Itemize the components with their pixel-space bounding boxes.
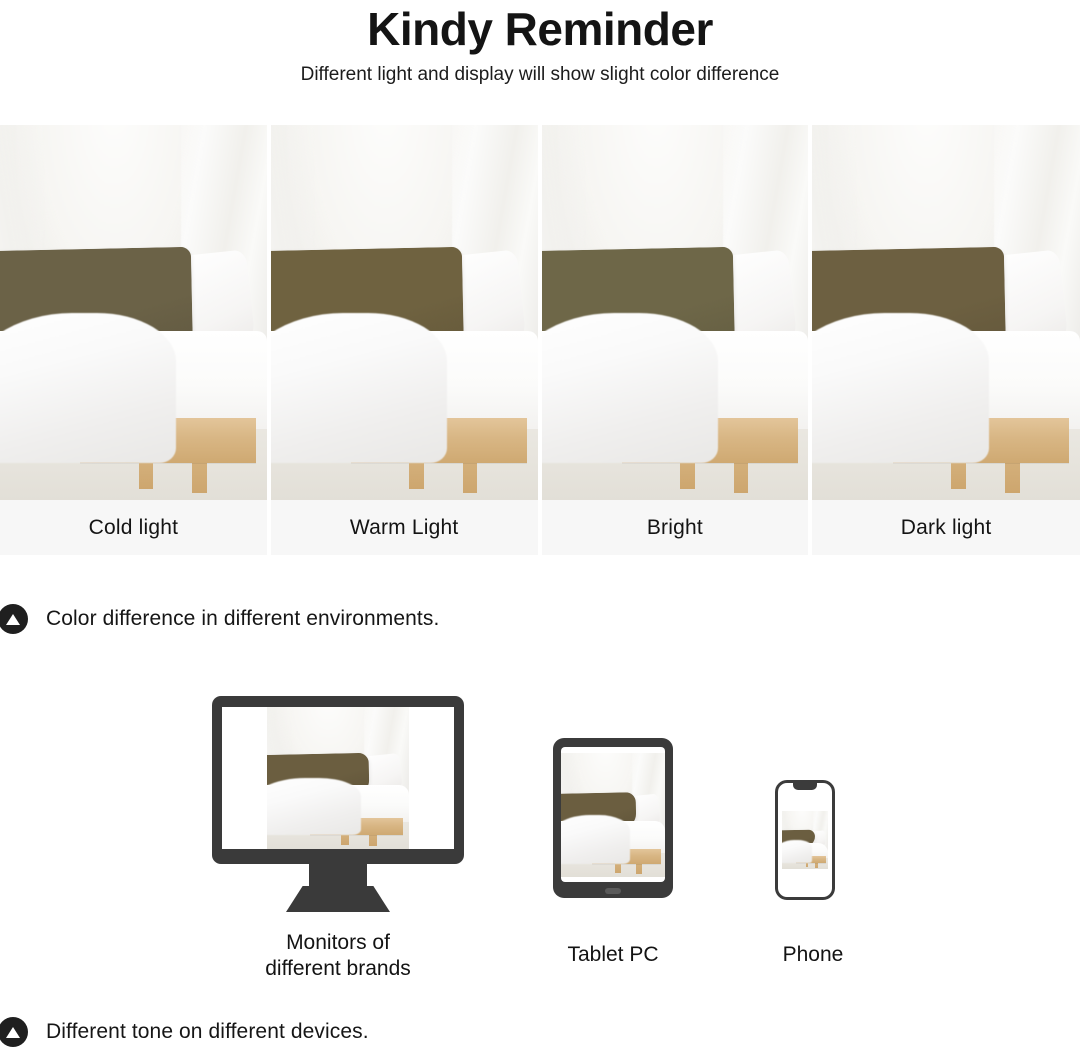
device-label-phone: Phone	[713, 942, 913, 968]
bedroom-thumbnail	[267, 707, 409, 849]
device-label-line1: Tablet PC	[493, 942, 733, 968]
lighting-panel-warm-light: Warm Light	[271, 125, 538, 555]
lighting-comparison-grid: Cold light Warm Light	[0, 125, 1080, 555]
lighting-label-cold-light: Cold light	[0, 500, 267, 555]
lighting-panel-bright: Bright	[542, 125, 809, 555]
bedroom-thumbnail	[561, 753, 665, 877]
header: Kindy Reminder Different light and displ…	[0, 0, 1080, 88]
device-comparison-row: Monitors of different brands Tablet PC P…	[0, 672, 1080, 982]
monitor-stand-neck	[309, 864, 367, 886]
duvet	[542, 313, 718, 463]
tablet-screen	[561, 747, 665, 882]
device-phone	[775, 780, 835, 900]
lighting-label-dark-light: Dark light	[812, 500, 1080, 555]
phone-bezel	[775, 780, 835, 900]
bedroom-photo-bright	[542, 125, 809, 500]
lighting-panel-cold-light: Cold light	[0, 125, 267, 555]
duvet	[0, 313, 176, 463]
lighting-label-bright: Bright	[542, 500, 809, 555]
device-label-line1: Phone	[713, 942, 913, 968]
duvet	[271, 313, 447, 463]
tablet-bezel	[553, 738, 673, 898]
note-color-difference: Color difference in different environmen…	[0, 604, 439, 634]
monitor-bezel	[212, 696, 464, 864]
duvet	[812, 313, 989, 463]
device-label-line1: Monitors of	[190, 930, 486, 956]
note-device-tone: Different tone on different devices.	[0, 1017, 369, 1047]
triangle-up-icon	[0, 1017, 28, 1047]
tablet-home-button-icon	[605, 888, 621, 894]
device-label-line2: different brands	[190, 956, 486, 982]
device-label-tablet: Tablet PC	[493, 942, 733, 968]
note-text: Different tone on different devices.	[46, 1020, 369, 1044]
phone-notch-icon	[793, 783, 817, 790]
page-subtitle: Different light and display will show sl…	[0, 62, 1080, 88]
device-monitor	[212, 696, 464, 912]
device-tablet	[553, 738, 673, 898]
page-title: Kindy Reminder	[0, 2, 1080, 56]
note-text: Color difference in different environmen…	[46, 607, 439, 631]
lighting-panel-dark-light: Dark light	[812, 125, 1080, 555]
lighting-label-warm-light: Warm Light	[271, 500, 538, 555]
bedroom-thumbnail	[782, 811, 828, 869]
bedroom-photo-dark-light	[812, 125, 1080, 500]
bedroom-photo-warm-light	[271, 125, 538, 500]
triangle-up-icon	[0, 604, 28, 634]
device-label-monitor: Monitors of different brands	[190, 930, 486, 982]
monitor-screen	[222, 707, 454, 849]
bedroom-photo-cold-light	[0, 125, 267, 500]
monitor-stand-base	[286, 886, 390, 912]
